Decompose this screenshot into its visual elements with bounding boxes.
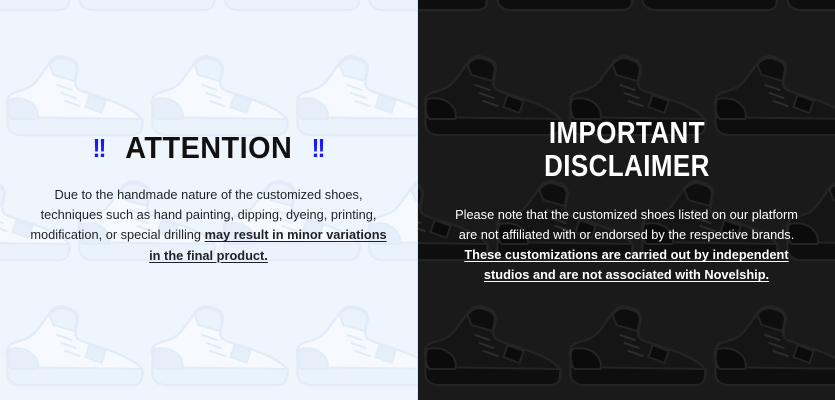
disclaimer-banner: !! ATTENTION !! Due to the handmade natu…: [0, 0, 835, 400]
disclaimer-body-plain: Please note that the customized shoes li…: [455, 207, 798, 242]
attention-heading-row: !! ATTENTION !!: [92, 130, 324, 166]
attention-panel: !! ATTENTION !! Due to the handmade natu…: [0, 0, 417, 400]
attention-heading: ATTENTION: [125, 130, 292, 166]
disclaimer-content: IMPORTANT DISCLAIMER Please note that th…: [418, 0, 835, 286]
disclaimer-panel: IMPORTANT DISCLAIMER Please note that th…: [417, 0, 835, 400]
double-exclamation-left-icon: !!: [93, 135, 105, 161]
disclaimer-heading-line-1: IMPORTANT: [544, 117, 710, 150]
attention-body-text: Due to the handmade nature of the custom…: [0, 185, 417, 266]
disclaimer-heading-line-2: DISCLAIMER: [544, 150, 710, 183]
disclaimer-body-text: Please note that the customized shoes li…: [418, 205, 835, 286]
disclaimer-body-emphasis: These customizations are carried out by …: [464, 247, 788, 282]
double-exclamation-right-icon: !!: [312, 135, 324, 161]
attention-content: !! ATTENTION !! Due to the handmade natu…: [0, 0, 417, 266]
disclaimer-heading: IMPORTANT DISCLAIMER: [534, 117, 718, 183]
